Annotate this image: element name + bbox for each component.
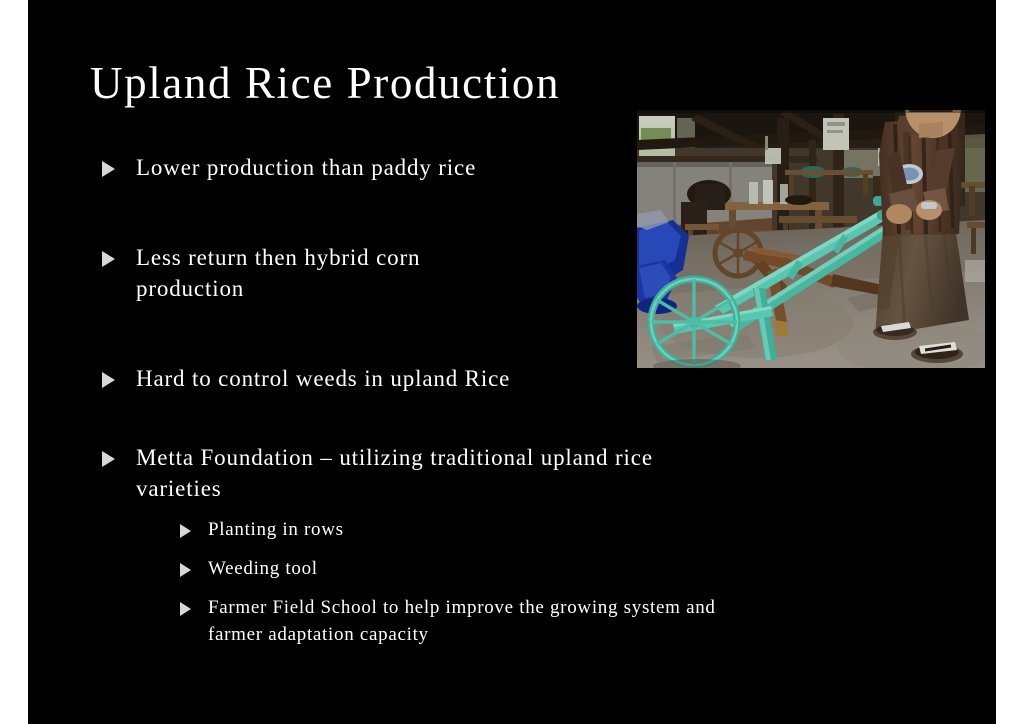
slide-canvas: Upland Rice Production (28, 0, 996, 724)
list-item: Farmer Field School to help improve the … (90, 594, 850, 648)
list-item-label: Hard to control weeds in upland Rice (136, 363, 850, 394)
list-item-label: Less return then hybrid corn production (136, 242, 850, 304)
list-item: Lower production than paddy rice (90, 152, 850, 183)
list-item-label: Lower production than paddy rice (136, 152, 850, 183)
bullet-list: Lower production than paddy rice Less re… (90, 152, 850, 648)
slide-root: Upland Rice Production (0, 0, 1024, 724)
list-item: Hard to control weeds in upland Rice (90, 363, 850, 394)
spacer (90, 394, 850, 442)
list-item-label: Weeding tool (208, 555, 850, 582)
spacer (90, 582, 850, 594)
spacer (90, 304, 850, 363)
list-item-label: Farmer Field School to help improve the … (208, 594, 850, 648)
list-item-label: Planting in rows (208, 516, 850, 543)
spacer (90, 183, 850, 242)
list-item: Metta Foundation – utilizing traditional… (90, 442, 850, 504)
triangle-right-icon (180, 602, 191, 616)
triangle-right-icon (102, 451, 115, 467)
spacer (90, 504, 850, 516)
list-item: Less return then hybrid corn production (90, 242, 850, 304)
list-item: Planting in rows (90, 516, 850, 543)
list-item-label: Metta Foundation – utilizing traditional… (136, 442, 850, 504)
triangle-right-icon (102, 161, 115, 177)
list-item: Weeding tool (90, 555, 850, 582)
spacer (90, 543, 850, 555)
triangle-right-icon (102, 251, 115, 267)
triangle-right-icon (180, 563, 191, 577)
page-title: Upland Rice Production (90, 58, 790, 108)
triangle-right-icon (102, 372, 115, 388)
triangle-right-icon (180, 524, 191, 538)
